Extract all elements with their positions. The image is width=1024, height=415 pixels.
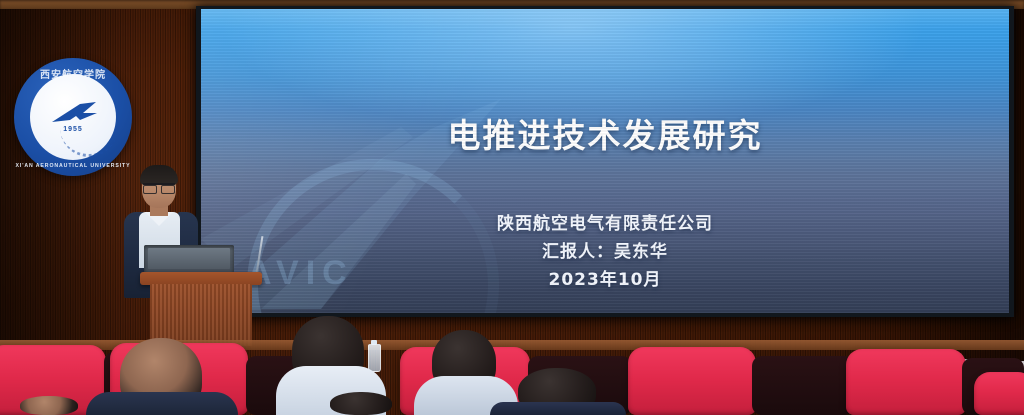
conference-photo-scene: 西安航空学院 1955 XI'AN AERONAUTICAL UNIVERSIT…: [0, 0, 1024, 415]
seat: [628, 347, 756, 415]
led-presentation-screen: AVIC 电推进技术发展研究 陕西航空电气有限责任公司 汇报人：吴东华 2023…: [201, 9, 1009, 313]
glasses-icon: [143, 183, 175, 192]
seat-back-panel: [752, 356, 854, 415]
airplane-icon: [50, 100, 100, 126]
attendee-shoulders: [490, 402, 626, 415]
slide-subtitle-company: 陕西航空电气有限责任公司: [201, 209, 1009, 234]
water-bottle: [368, 344, 381, 372]
seat: [846, 349, 966, 415]
attendee-head: [20, 396, 78, 415]
slide-subtitle-presenter: 汇报人：吴东华: [201, 237, 1009, 262]
wooden-podium: [150, 284, 252, 346]
emblem-english-name: XI'AN AERONAUTICAL UNIVERSITY: [14, 163, 132, 169]
emblem-inner-disc: 1955: [30, 74, 116, 160]
university-emblem: 西安航空学院 1955 XI'AN AERONAUTICAL UNIVERSIT…: [14, 58, 132, 176]
laptop-screen: [148, 248, 230, 269]
attendee-shoulders: [86, 392, 238, 415]
seat: [974, 372, 1024, 415]
attendee-head: [330, 392, 392, 415]
slide-title: 电推进技术发展研究: [201, 109, 1009, 157]
emblem-founded-year: 1955: [30, 126, 116, 133]
laptop-on-podium: [144, 245, 234, 273]
speaker-hair: [140, 165, 178, 185]
slide-subtitle-date: 2023年10月: [201, 265, 1009, 290]
